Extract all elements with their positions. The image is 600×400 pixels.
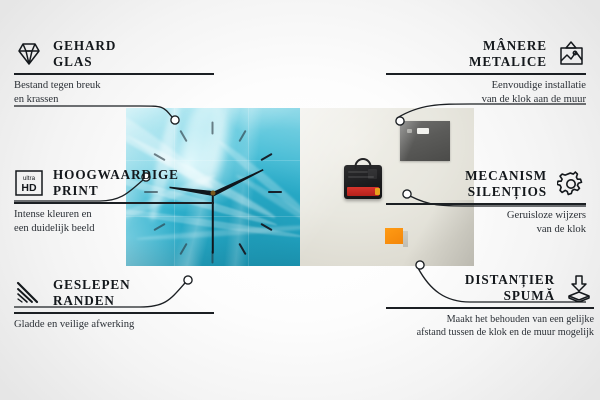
picture-frame-icon bbox=[556, 39, 586, 69]
infographic-stage: GEHARD GLAS Bestand tegen breuk en krass… bbox=[0, 0, 600, 400]
diamond-icon bbox=[14, 39, 44, 69]
feature-title: HOOGWAARDIGE PRINT bbox=[53, 167, 179, 198]
feature-mecanism-silentios: MECANISM SILENȚIOS Geruisloze wijzers va… bbox=[386, 168, 586, 236]
clock-movement-box bbox=[344, 165, 382, 199]
clock-center-cap bbox=[211, 191, 216, 196]
divider bbox=[14, 202, 214, 203]
feature-manere-metalice: MÂNERE METALICE Eenvoudige installatie v… bbox=[386, 38, 586, 106]
feature-hoogwaardige-print: ultra HD HOOGWAARDIGE PRINT Intense kleu… bbox=[14, 167, 214, 235]
press-down-pad-icon bbox=[564, 273, 594, 303]
feature-gehard-glas: GEHARD GLAS Bestand tegen breuk en krass… bbox=[14, 38, 214, 106]
gear-icon bbox=[556, 169, 586, 199]
feature-description: Maakt het behouden van een gelijke afsta… bbox=[386, 313, 594, 340]
divider bbox=[386, 73, 586, 74]
feature-description: Eenvoudige installatie van de klok aan d… bbox=[386, 79, 586, 107]
feature-title: MECANISM SILENȚIOS bbox=[465, 168, 547, 199]
feature-distantier-spuma: DISTANȚIER SPUMĂ Maakt het behouden van … bbox=[386, 272, 594, 339]
feature-title: MÂNERE METALICE bbox=[469, 38, 547, 69]
metal-hanger-plate bbox=[400, 121, 450, 161]
svg-text:ultra: ultra bbox=[23, 175, 36, 182]
divider bbox=[386, 203, 586, 204]
feature-description: Gladde en veilige afwerking bbox=[14, 318, 214, 332]
feature-title: DISTANȚIER SPUMĂ bbox=[465, 272, 555, 303]
feature-geslepen-randen: GESLEPEN RANDEN Gladde en veilige afwerk… bbox=[14, 277, 214, 332]
divider bbox=[14, 73, 214, 74]
battery bbox=[347, 187, 379, 196]
svg-text:HD: HD bbox=[21, 182, 37, 194]
ultra-hd-icon: ultra HD bbox=[14, 168, 44, 198]
feature-title: GESLEPEN RANDEN bbox=[53, 277, 131, 308]
feature-description: Intense kleuren en een duidelijk beeld bbox=[14, 208, 214, 236]
feature-title: GEHARD GLAS bbox=[53, 38, 116, 69]
bevelled-edges-icon bbox=[14, 278, 44, 308]
divider bbox=[386, 307, 594, 308]
divider bbox=[14, 312, 214, 313]
feature-description: Bestand tegen breuk en krassen bbox=[14, 79, 214, 107]
feature-description: Geruisloze wijzers van de klok bbox=[386, 209, 586, 237]
